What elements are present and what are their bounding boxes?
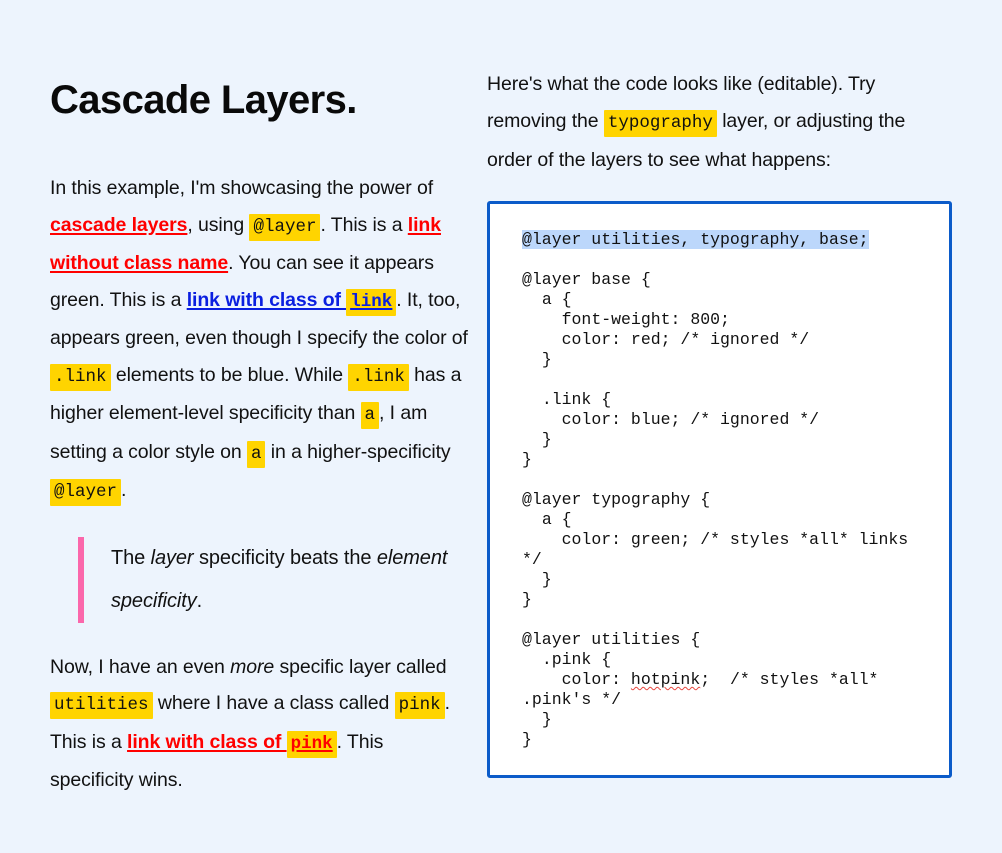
code-dot-link-1: .link: [50, 364, 111, 391]
text-run: specific layer called: [274, 656, 446, 678]
right-column: Here's what the code looks like (editabl…: [470, 0, 1002, 778]
link-with-class-of-link[interactable]: link with class of link: [187, 289, 397, 311]
code-misspelled-hotpink[interactable]: hotpink: [631, 670, 700, 689]
link-label: link with class of: [127, 731, 287, 753]
code-at-layer-2: @layer: [50, 479, 121, 506]
text-run: The: [111, 547, 151, 569]
code-at-layer: @layer: [249, 214, 320, 241]
emphasis-more: more: [230, 656, 274, 678]
link-with-class-of-pink[interactable]: link with class of pink: [127, 731, 337, 753]
blockquote-text: The layer specificity beats the element …: [111, 537, 470, 623]
code-typography: typography: [604, 110, 717, 137]
code-dot-link-2: .link: [348, 364, 409, 391]
text-run: , using: [187, 214, 249, 236]
code-editor-panel[interactable]: @layer utilities, typography, base; @lay…: [487, 201, 952, 778]
paragraph-utilities: Now, I have an even more specific layer …: [50, 649, 470, 799]
text-run: .: [197, 590, 202, 612]
left-column: Cascade Layers. In this example, I'm sho…: [0, 0, 470, 799]
left-prose: In this example, I'm showcasing the powe…: [50, 170, 470, 799]
code-pink: pink: [395, 692, 445, 719]
text-run: where I have a class called: [153, 692, 395, 714]
text-run: in a higher-specificity: [265, 441, 450, 463]
page-title: Cascade Layers.: [50, 78, 470, 122]
code-utilities: utilities: [50, 692, 153, 719]
editor-intro-text: Here's what the code looks like (editabl…: [487, 66, 952, 179]
blockquote-layer-specificity: The layer specificity beats the element …: [78, 537, 470, 623]
code-pink-class: pink: [287, 731, 337, 758]
text-run: In this example, I'm showcasing the powe…: [50, 177, 433, 199]
paragraph-intro: In this example, I'm showcasing the powe…: [50, 170, 470, 511]
link-cascade-layers[interactable]: cascade layers: [50, 214, 187, 236]
code-a-2: a: [247, 441, 266, 468]
code-a-1: a: [361, 402, 380, 429]
text-run: specificity beats the: [193, 547, 376, 569]
text-run: . This is a: [320, 214, 407, 236]
code-link-class: link: [346, 289, 396, 316]
code-selected-line[interactable]: @layer utilities, typography, base;: [522, 230, 869, 249]
text-run: .: [121, 479, 126, 501]
emphasis-layer: layer: [151, 547, 194, 569]
editor-intro: Here's what the code looks like (editabl…: [487, 66, 952, 179]
code-editor-content[interactable]: @layer utilities, typography, base; @lay…: [522, 230, 927, 750]
page-root: Cascade Layers. In this example, I'm sho…: [0, 0, 1002, 853]
code-body[interactable]: @layer base { a { font-weight: 800; colo…: [522, 270, 918, 689]
text-run: elements to be blue. While: [111, 364, 349, 386]
text-run: Now, I have an even: [50, 656, 230, 678]
link-label: link with class of: [187, 289, 347, 311]
